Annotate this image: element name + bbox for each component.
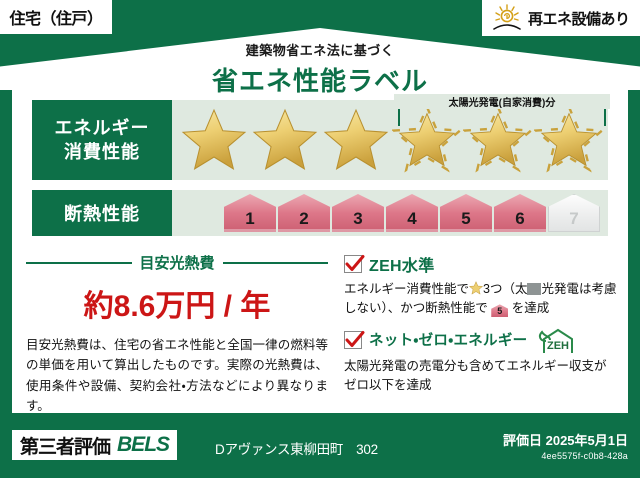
zeh-block-group: ZEH水準 エネルギー消費性能で3つ（太光発電は考慮しない）、かつ断熱性能で 5…	[342, 250, 628, 413]
star-filled-icon	[398, 111, 456, 169]
insulation-level-3: 3	[332, 194, 384, 232]
sun-icon	[490, 3, 524, 33]
utility-cost-note: 目安光熱費は、住宅の省エネ性能と全国一律の燃料等の単価を用いて算出したものです。…	[26, 335, 328, 416]
redacted-mark	[527, 283, 541, 295]
title-subtitle: 建築物省エネ法に基づく	[0, 40, 640, 59]
insulation-level-2: 2	[278, 194, 330, 232]
net-zero-energy-block: ネット・ゼロ・エネルギー ZEH 太陽光発電の売電分も含めてエネルギー収支がゼロ…	[344, 327, 618, 396]
lower-section: 目安光熱費 約8.6万円 / 年 目安光熱費は、住宅の省エネ性能と全国一律の燃料…	[12, 250, 628, 413]
housing-type-text: 住宅（住戸）	[9, 5, 102, 29]
footer-bar: 第三者評価 BELS Dアヴァンス東柳田町 302 評価日 2025年5月1日 …	[0, 420, 640, 478]
zeh-body-end: を達成	[512, 301, 550, 315]
star-filled-icon	[469, 111, 527, 169]
zeh-body-mid: 3つ（太	[483, 282, 527, 296]
rule-left	[26, 262, 132, 264]
star-rating	[172, 100, 608, 180]
star-slot	[249, 104, 320, 176]
insulation-performance-label: 断熱性能	[32, 190, 172, 236]
svg-text:ZEH: ZEH	[547, 340, 569, 352]
energy-performance-label: エネルギー 消費性能	[32, 100, 172, 180]
zeh-standard-heading: ZEH水準	[344, 252, 618, 276]
insulation-scale: 1 2 3 4 5 6 7	[172, 190, 608, 236]
main-panel: エネルギー 消費性能 太陽光発電(自家消費)分	[12, 88, 628, 413]
utility-cost-block: 目安光熱費 約8.6万円 / 年 目安光熱費は、住宅の省エネ性能と全国一律の燃料…	[12, 250, 342, 413]
star-filled-icon	[181, 107, 247, 173]
evaluation-date: 評価日 2025年5月1日	[503, 430, 628, 449]
energy-star-area: 太陽光発電(自家消費)分	[172, 100, 608, 180]
zeh-standard-block: ZEH水準 エネルギー消費性能で3つ（太光発電は考慮しない）、かつ断熱性能で 5…	[344, 252, 618, 319]
star-inline-icon	[469, 281, 483, 295]
renewable-equipment-badge: 再エネ設備あり	[482, 0, 640, 36]
bels-en-text: BELS	[117, 433, 169, 457]
renewable-text: 再エネ設備あり	[528, 8, 630, 29]
evaluation-info: 評価日 2025年5月1日 4ee5575f-c0b8-428a	[503, 430, 628, 461]
star-slot-pv	[533, 104, 604, 176]
net-zero-body: 太陽光発電の売電分も含めてエネルギー収支がゼロ以下を達成	[344, 357, 618, 396]
housing-type-badge: 住宅（住戸）	[0, 0, 112, 34]
energy-performance-label: 住宅（住戸） 再エネ設備あり 建築物省エネ法に基づく	[0, 0, 640, 478]
energy-label-line1: エネルギー	[55, 116, 150, 140]
zeh-body-pre: エネルギー消費性能で	[344, 282, 469, 296]
zeh-standard-body: エネルギー消費性能で3つ（太光発電は考慮しない）、かつ断熱性能で 5 を達成	[344, 280, 618, 319]
insulation-label-text: 断熱性能	[64, 200, 140, 226]
star-slot	[320, 104, 391, 176]
insulation-level-6: 6	[494, 194, 546, 232]
insulation-badge-icon: 5	[491, 304, 508, 317]
star-slot-pv	[391, 104, 462, 176]
star-slot	[178, 104, 249, 176]
property-name: Dアヴァンス東柳田町 302	[215, 438, 378, 458]
star-filled-icon	[252, 107, 318, 173]
net-zero-title: ネット・ゼロ・エネルギー	[369, 329, 527, 350]
evaluation-id: 4ee5575f-c0b8-428a	[503, 451, 628, 461]
bels-jp-text: 第三者評価	[20, 432, 110, 459]
title-block: 建築物省エネ法に基づく 省エネ性能ラベル	[0, 40, 640, 98]
insulation-level-5: 5	[440, 194, 492, 232]
page-title: 省エネ性能ラベル	[0, 61, 640, 98]
insulation-level-1: 1	[224, 194, 276, 232]
checkmark-icon	[344, 255, 362, 273]
rule-right	[223, 262, 329, 264]
zeh-standard-title: ZEH水準	[369, 252, 435, 276]
insulation-scale-area: 1 2 3 4 5 6 7	[172, 190, 608, 236]
star-filled-icon	[323, 107, 389, 173]
insulation-level-7: 7	[548, 194, 600, 232]
insulation-performance-row: 断熱性能 1 2 3 4 5 6 7	[32, 190, 608, 236]
star-slot-pv	[462, 104, 533, 176]
star-filled-icon	[540, 111, 598, 169]
bels-logo: 第三者評価 BELS	[12, 430, 177, 460]
utility-cost-heading: 目安光熱費	[26, 252, 328, 273]
energy-performance-row: エネルギー 消費性能 太陽光発電(自家消費)分	[32, 100, 608, 180]
utility-cost-title: 目安光熱費	[140, 252, 215, 273]
zeh-logo-icon: ZEH	[536, 327, 576, 353]
checkmark-icon	[344, 331, 362, 349]
net-zero-heading: ネット・ゼロ・エネルギー ZEH	[344, 327, 618, 353]
energy-label-line2: 消費性能	[64, 140, 140, 164]
insulation-level-4: 4	[386, 194, 438, 232]
utility-cost-value: 約8.6万円 / 年	[26, 281, 328, 325]
